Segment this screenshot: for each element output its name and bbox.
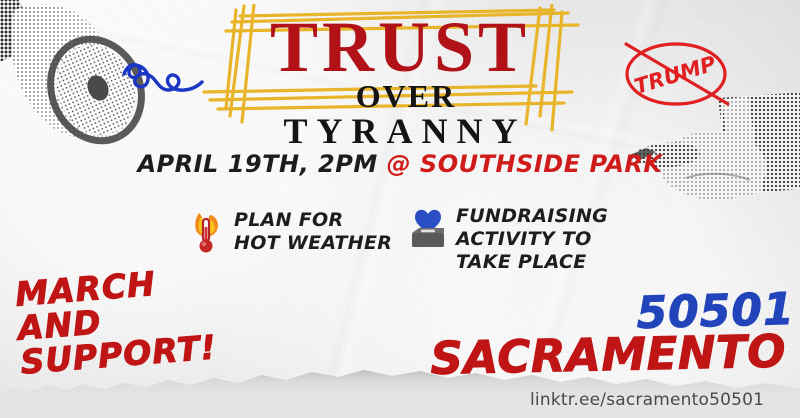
info-weather-line1: PLAN FOR [234, 209, 343, 231]
info-fundraising-line3: TAKE PLACE [456, 251, 587, 273]
donation-box-icon [408, 205, 448, 251]
info-fundraising-line1: FUNDRAISING [456, 205, 608, 227]
headline-over: OVER [0, 80, 800, 112]
thermometer-fire-icon [186, 209, 226, 255]
call-to-action: MARCH AND SUPPORT! [14, 263, 218, 380]
info-fundraising-line2: ACTIVITY TO [456, 228, 592, 250]
headline-trust: TRUST [0, 14, 800, 80]
info-item-weather: PLAN FOR HOT WEATHER [186, 209, 392, 255]
headline-tyranny: TYRANNY [0, 112, 800, 150]
info-weather-line2: HOT WEATHER [234, 232, 392, 254]
headline-block: TRUST OVER TYRANNY [0, 14, 800, 150]
info-item-fundraising: FUNDRAISING ACTIVITY TO TAKE PLACE [408, 205, 608, 274]
org-city: SACRAMENTO [430, 329, 786, 381]
info-fundraising-text: FUNDRAISING ACTIVITY TO TAKE PLACE [456, 205, 608, 274]
protest-flyer: TRUMP TRUST OVER TYRANNY APRIL 1 [0, 0, 800, 418]
event-location: @ SOUTHSIDE PARK [387, 150, 663, 178]
info-row: PLAN FOR HOT WEATHER FUNDRAISING ACTIVIT… [186, 205, 656, 291]
event-date-time: APRIL 19TH, 2PM [137, 150, 377, 178]
footer-url[interactable]: linktr.ee/sacramento50501 [530, 390, 764, 410]
info-weather-text: PLAN FOR HOT WEATHER [234, 209, 392, 255]
event-dateline: APRIL 19TH, 2PM @ SOUTHSIDE PARK [0, 150, 800, 178]
